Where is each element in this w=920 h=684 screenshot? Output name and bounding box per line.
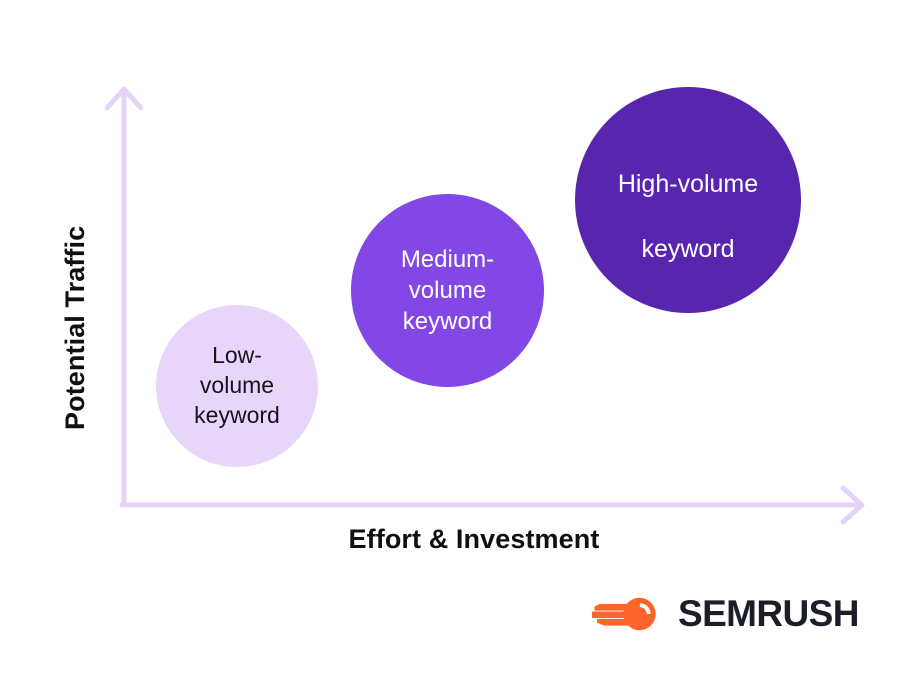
bubble-high-volume-label: High-volume keyword <box>612 135 764 265</box>
bubble-low-line-1: Low- <box>212 342 262 368</box>
bubble-low-volume-keyword[interactable]: Low- volume keyword <box>156 305 318 467</box>
bubble-medium-line-3: keyword <box>403 308 492 335</box>
bubble-medium-volume-keyword[interactable]: Medium- volume keyword <box>351 194 544 387</box>
y-axis-arrowhead <box>107 89 141 108</box>
infographic-canvas: Potential Traffic Effort & Investment Lo… <box>0 0 920 684</box>
x-axis-arrowhead <box>843 488 862 522</box>
x-axis-label: Effort & Investment <box>0 524 920 555</box>
bubble-low-volume-label: Low- volume keyword <box>188 341 286 431</box>
bubble-high-line-2: keyword <box>641 235 734 263</box>
bubble-low-line-3: keyword <box>194 402 280 428</box>
semrush-logo: SEMRUSH <box>592 590 859 636</box>
y-axis-label: Potential Traffic <box>60 226 91 430</box>
bubble-medium-line-1: Medium- <box>401 246 494 273</box>
bubble-high-volume-keyword[interactable]: High-volume keyword <box>575 87 801 313</box>
semrush-wordmark: SEMRUSH <box>678 595 859 632</box>
bubble-low-line-2: volume <box>200 372 274 398</box>
bubble-high-line-1: High-volume <box>618 170 758 198</box>
bubble-medium-volume-label: Medium- volume keyword <box>395 244 500 338</box>
semrush-comet-icon <box>592 590 666 636</box>
bubble-medium-line-2: volume <box>409 277 486 304</box>
